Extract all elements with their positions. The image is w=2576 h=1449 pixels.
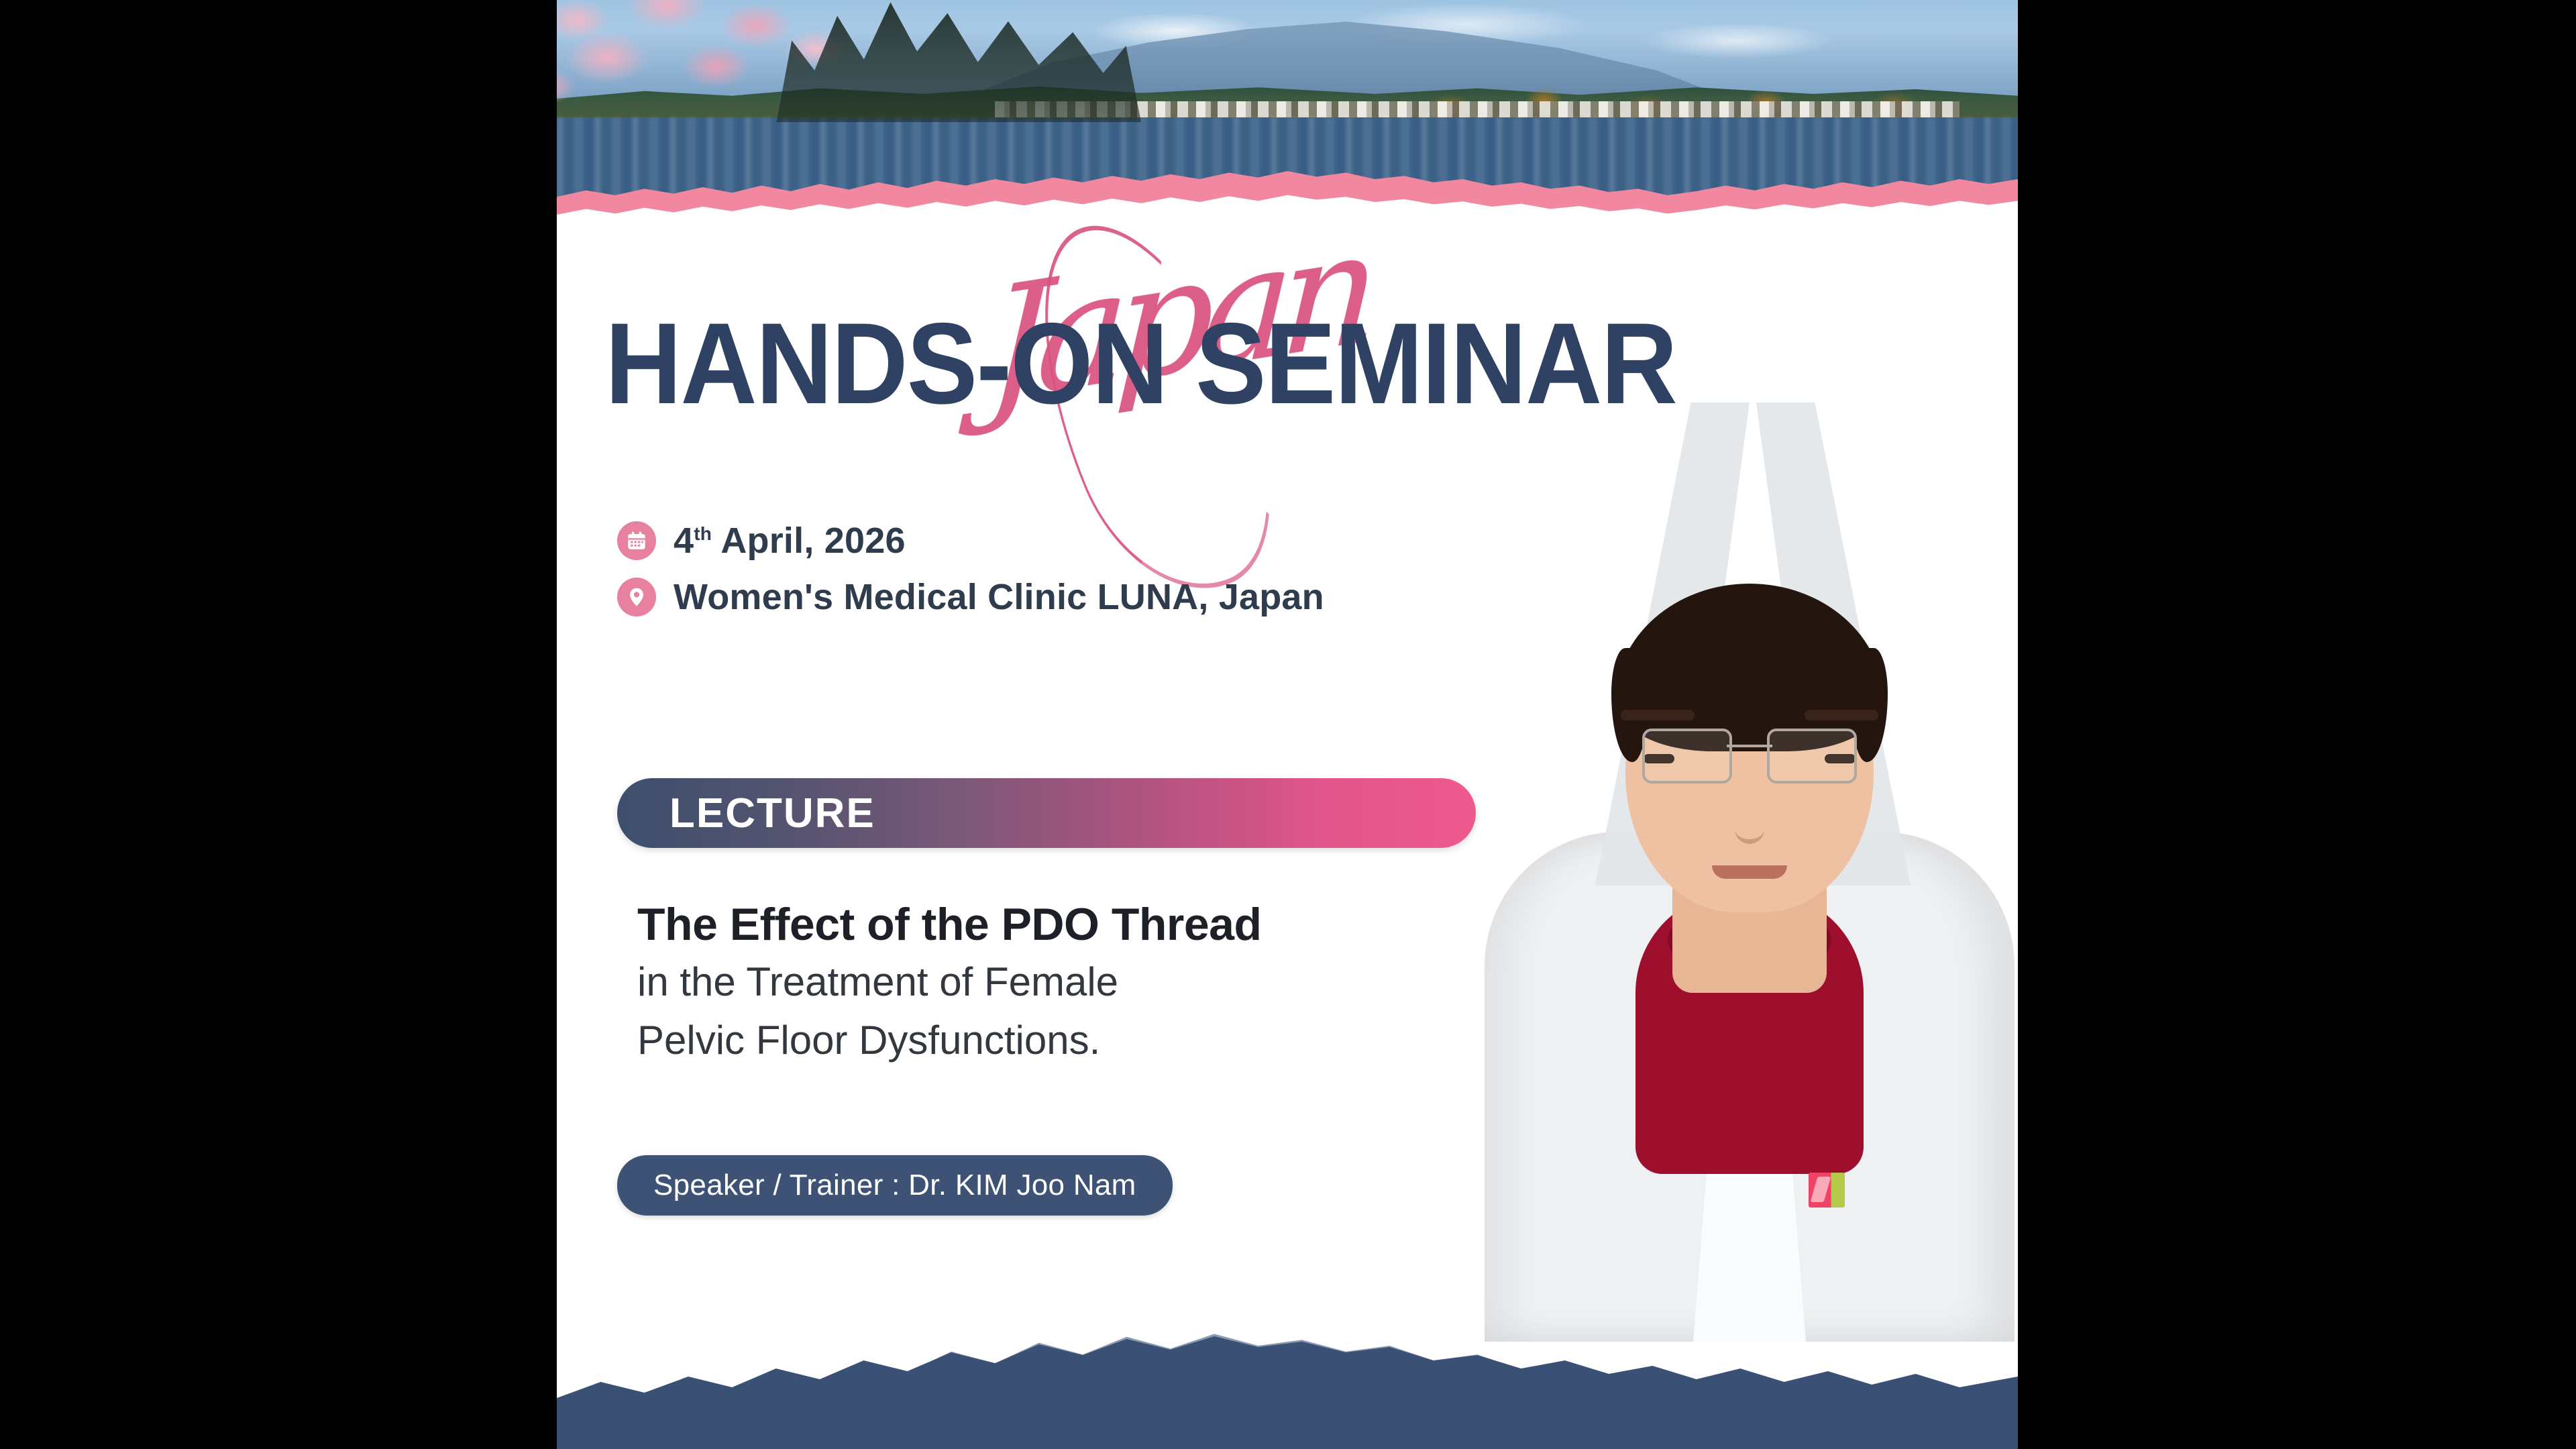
hero-photo: [557, 0, 2018, 235]
eyebrow-right: [1805, 710, 1878, 720]
venue-row: Women's Medical Clinic LUNA, Japan: [617, 576, 1324, 618]
eyeglasses: [1642, 729, 1857, 778]
letterbox-stage: Japan HANDS-ON SEMINAR: [0, 0, 2576, 1449]
lens-right: [1767, 729, 1857, 784]
location-pin-icon: [617, 578, 656, 616]
mouth: [1712, 865, 1787, 879]
lecture-title-block: The Effect of the PDO Thread in the Trea…: [637, 899, 1523, 1067]
date-ordinal: th: [694, 523, 712, 544]
seminar-poster: Japan HANDS-ON SEMINAR: [557, 0, 2018, 1449]
date-day: 4: [674, 521, 694, 561]
speaker-pill: Speaker / Trainer : Dr. KIM Joo Nam: [617, 1155, 1173, 1216]
event-date: 4th April, 2026: [674, 520, 906, 561]
lecture-title-line2: in the Treatment of Female: [637, 957, 1523, 1008]
lecture-banner: LECTURE: [617, 778, 1476, 848]
date-row: 4th April, 2026: [617, 520, 1324, 561]
speaker-name: Speaker / Trainer : Dr. KIM Joo Nam: [653, 1169, 1136, 1201]
calendar-icon: [617, 521, 656, 560]
lecture-title-line3: Pelvic Floor Dysfunctions.: [637, 1015, 1523, 1067]
doctor-portrait: [1474, 376, 2018, 1342]
date-rest: April, 2026: [712, 521, 906, 561]
event-info: 4th April, 2026 Women's Medical Clinic L…: [617, 520, 1324, 633]
lecture-title-line1: The Effect of the PDO Thread: [637, 899, 1523, 950]
eyebrow-left: [1621, 710, 1695, 720]
lens-left: [1642, 729, 1732, 784]
lecture-banner-label: LECTURE: [669, 790, 875, 837]
glasses-bridge: [1727, 745, 1772, 747]
event-venue: Women's Medical Clinic LUNA, Japan: [674, 576, 1324, 618]
clinic-logo-badge: [1809, 1173, 1845, 1207]
